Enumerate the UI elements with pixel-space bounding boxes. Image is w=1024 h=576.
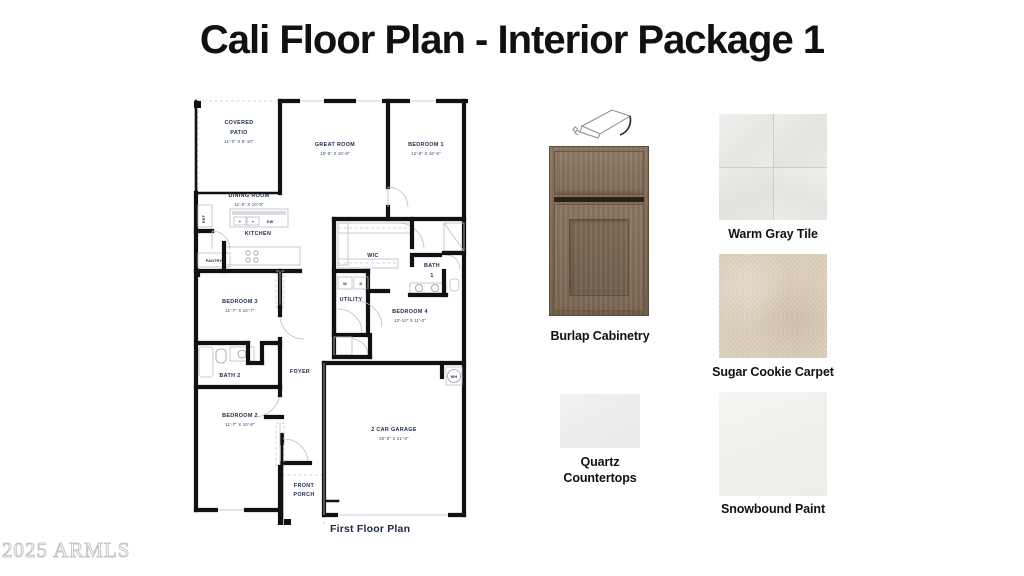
svg-text:COVERED: COVERED — [224, 120, 253, 126]
svg-text:11'-0" X 10'-9": 11'-0" X 10'-9" — [234, 202, 263, 207]
cabinet-drawer-panel — [554, 151, 644, 195]
svg-text:KITCHEN: KITCHEN — [245, 231, 271, 237]
svg-text:PORCH: PORCH — [293, 492, 314, 498]
svg-text:11'-0" X 8'-10": 11'-0" X 8'-10" — [224, 139, 253, 144]
svg-text:BEDROOM 3: BEDROOM 3 — [222, 299, 258, 305]
cabinet-reveal-gap — [554, 197, 644, 202]
svg-text:BEDROOM 2: BEDROOM 2 — [222, 413, 258, 419]
tile-label: Warm Gray Tile — [683, 227, 863, 243]
watermark: 2025 ARMLS — [2, 538, 130, 563]
svg-text:1: 1 — [430, 273, 433, 279]
paint-label: Snowbound Paint — [683, 502, 863, 518]
tile-cell — [719, 167, 773, 220]
svg-text:WH: WH — [451, 375, 458, 379]
countertop-label: Quartz Countertops — [510, 455, 690, 486]
svg-text:UTILITY: UTILITY — [340, 297, 363, 303]
svg-text:FRONT: FRONT — [294, 483, 315, 489]
countertop-label-line2: Countertops — [510, 471, 690, 487]
carpet-swatch — [719, 254, 827, 358]
svg-text:FOYER: FOYER — [290, 369, 310, 375]
carpet-label: Sugar Cookie Carpet — [683, 365, 863, 381]
svg-text:15'-5" X 16'-6": 15'-5" X 16'-6" — [320, 151, 350, 156]
svg-text:DW: DW — [267, 220, 274, 224]
tile-grout-line — [719, 167, 827, 168]
floor-plan-caption: First Floor Plan — [330, 523, 410, 535]
cabinet-door-inset-panel — [569, 219, 629, 296]
countertop-swatch — [560, 394, 640, 448]
svg-text:D: D — [360, 282, 363, 286]
svg-text:BATH 2: BATH 2 — [219, 373, 240, 379]
svg-text:BATH: BATH — [424, 263, 440, 269]
cabinet-door-face — [549, 146, 649, 316]
page-title: Cali Floor Plan - Interior Package 1 — [0, 18, 1024, 63]
svg-text:11'-7" X 10'-7": 11'-7" X 10'-7" — [225, 308, 254, 313]
svg-text:GREAT ROOM: GREAT ROOM — [315, 142, 355, 148]
tile-cell — [773, 167, 827, 220]
svg-text:DINING ROOM: DINING ROOM — [229, 193, 270, 199]
svg-text:PANTRY: PANTRY — [206, 259, 223, 263]
countertop-label-line1: Quartz — [510, 455, 690, 471]
cabinet-sample-tag-icon — [568, 106, 638, 142]
svg-text:20'-0" X 21'-0": 20'-0" X 21'-0" — [379, 436, 409, 441]
floor-plan-marketing-page: Cali Floor Plan - Interior Package 1 .w … — [0, 0, 1024, 576]
svg-text:2 CAR GARAGE: 2 CAR GARAGE — [371, 427, 417, 433]
tile-swatch — [719, 114, 827, 220]
svg-text:13'-10" X 11'-0": 13'-10" X 11'-0" — [394, 318, 426, 323]
svg-text:12'-6" X 16'-6": 12'-6" X 16'-6" — [411, 151, 441, 156]
svg-text:WIC: WIC — [367, 253, 379, 259]
svg-text:PATIO: PATIO — [230, 130, 247, 136]
paint-swatch — [719, 392, 827, 496]
cabinetry-label: Burlap Cabinetry — [505, 329, 695, 345]
svg-text:REF: REF — [202, 214, 206, 223]
tile-cell — [773, 114, 827, 167]
svg-text:W: W — [343, 282, 347, 286]
cabinetry-swatch — [549, 146, 649, 316]
svg-text:11'-7" X 10'-8": 11'-7" X 10'-8" — [225, 422, 254, 427]
tile-cell — [719, 114, 773, 167]
svg-text:BEDROOM 1: BEDROOM 1 — [408, 142, 444, 148]
floor-plan-drawing: .w { stroke:#111; stroke-width:4.2; stro… — [188, 95, 468, 525]
floor-plan-svg: .w { stroke:#111; stroke-width:4.2; stro… — [188, 95, 468, 525]
svg-text:BEDROOM 4: BEDROOM 4 — [392, 309, 428, 315]
cabinet-door-frame — [554, 204, 644, 311]
